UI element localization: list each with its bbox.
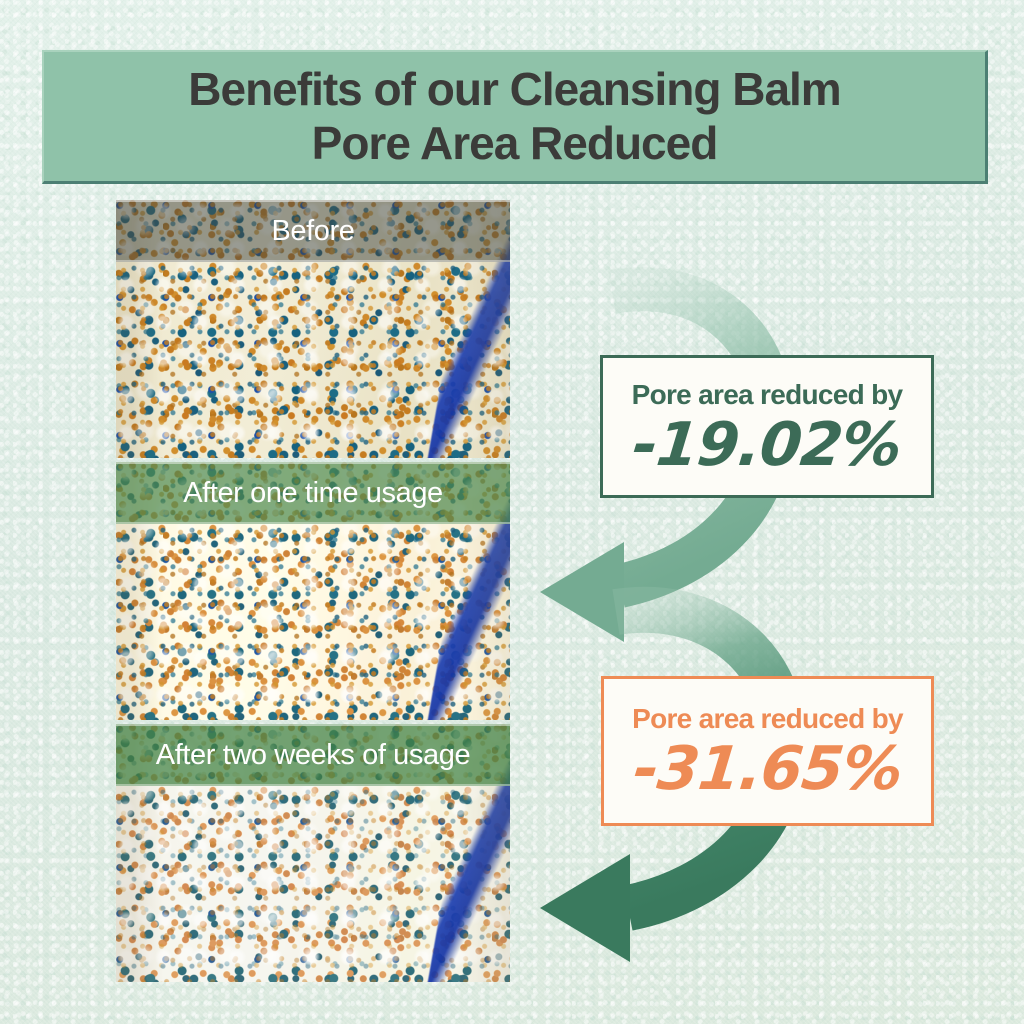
page-title-line-1: Benefits of our Cleansing Balm bbox=[188, 63, 840, 116]
caption-label-before: Before bbox=[271, 215, 354, 248]
skin-photo-before: Before bbox=[116, 200, 510, 458]
page-title-banner: Benefits of our Cleansing Balm Pore Area… bbox=[42, 50, 988, 184]
caption-label-after-one-time: After one time usage bbox=[183, 477, 443, 510]
caption-band-before: Before bbox=[116, 200, 510, 262]
callout-green-value: -19.02% bbox=[630, 415, 904, 475]
caption-band-after-one-time: After one time usage bbox=[116, 462, 510, 524]
callout-pore-reduction-orange: Pore area reduced by -31.65% bbox=[601, 676, 934, 826]
callout-pore-reduction-green: Pore area reduced by -19.02% bbox=[600, 355, 934, 498]
callout-green-label: Pore area reduced by bbox=[632, 379, 903, 411]
page-title-line-2: Pore Area Reduced bbox=[312, 117, 718, 170]
skin-comparison-stack: Before After one time usage After two we… bbox=[116, 200, 510, 982]
caption-label-after-two-weeks: After two weeks of usage bbox=[156, 739, 470, 772]
callout-orange-value: -31.65% bbox=[630, 739, 904, 799]
skin-photo-after-one-time: After one time usage bbox=[116, 462, 510, 720]
caption-band-after-two-weeks: After two weeks of usage bbox=[116, 724, 510, 786]
callout-orange-label: Pore area reduced by bbox=[632, 703, 903, 735]
skin-photo-after-two-weeks: After two weeks of usage bbox=[116, 724, 510, 982]
